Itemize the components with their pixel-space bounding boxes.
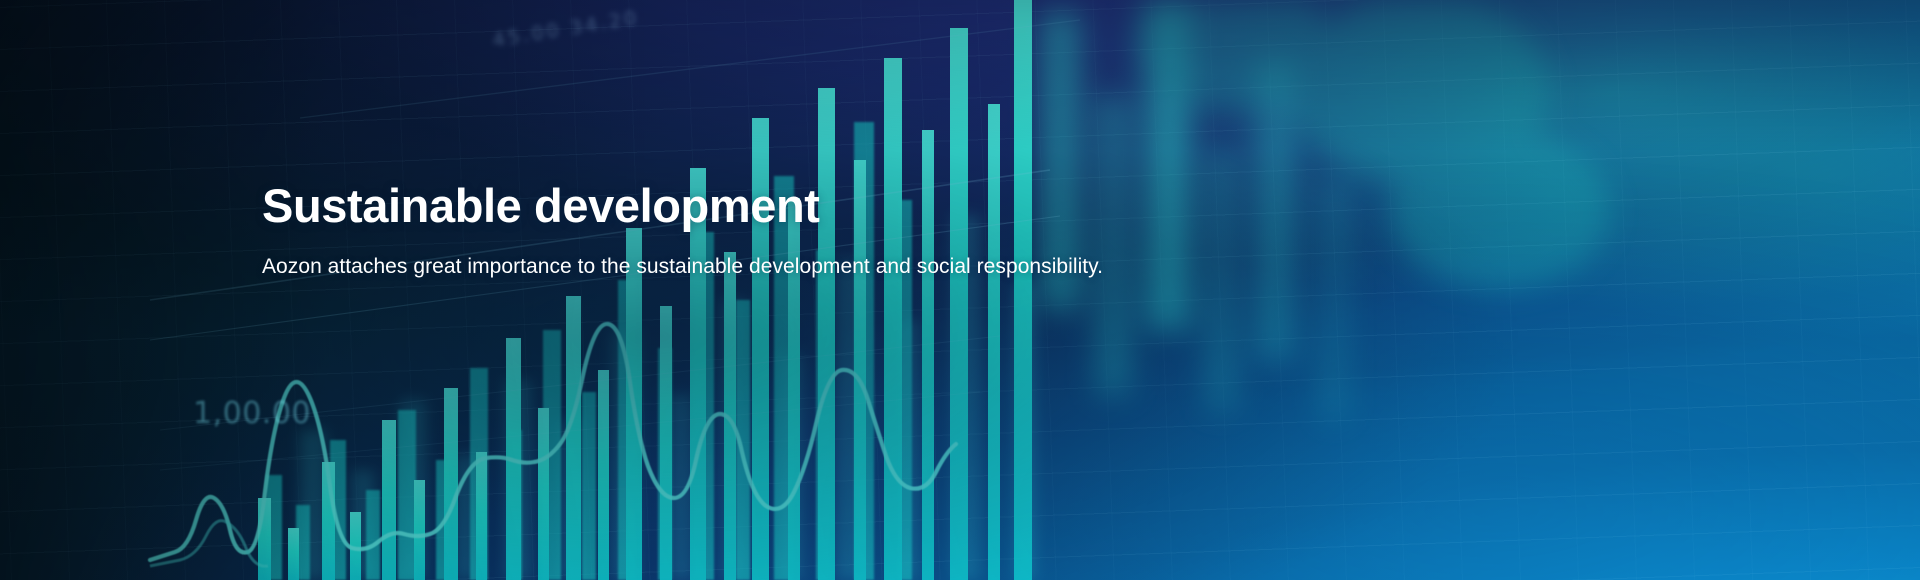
banner-copy-block: Sustainable development Aozon attaches g… bbox=[262, 182, 1512, 281]
background-vignette bbox=[0, 0, 1920, 580]
banner-subtitle: Aozon attaches great importance to the s… bbox=[262, 253, 1512, 281]
hero-banner: 1,00.00 45.00 34.20 Sustainable developm… bbox=[0, 0, 1920, 580]
banner-title: Sustainable development bbox=[262, 182, 1512, 231]
